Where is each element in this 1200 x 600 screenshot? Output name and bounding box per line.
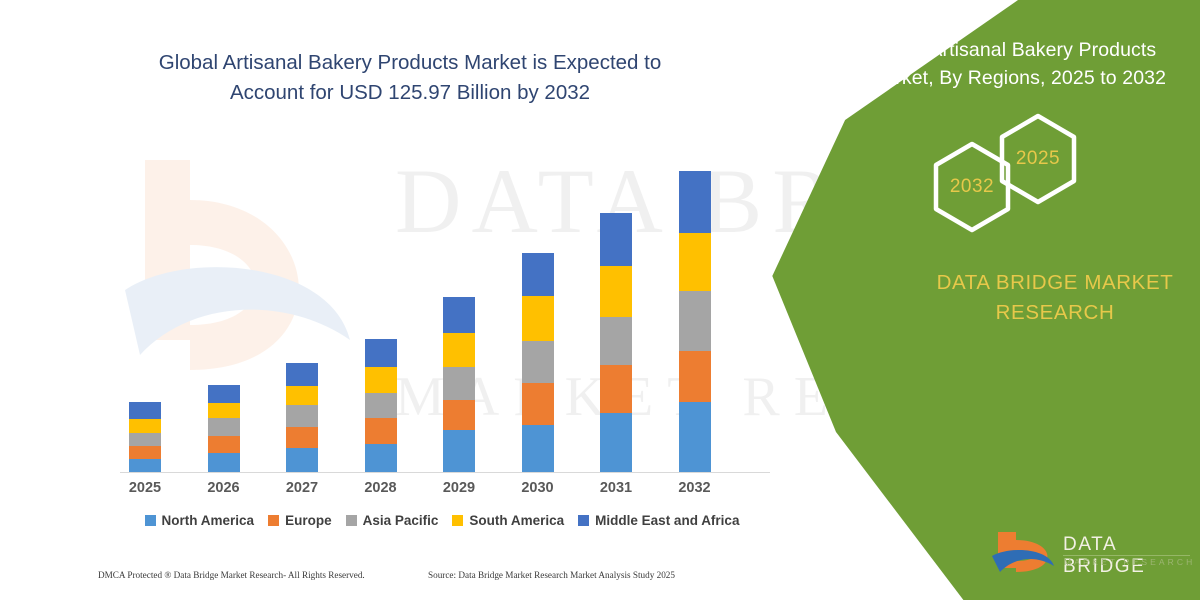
bar-segment-south-america — [286, 386, 318, 405]
hexagon-2032: 2032 — [930, 140, 1014, 234]
logo-divider — [1063, 555, 1190, 556]
stacked-bar-chart: 20252026202720282029203020312032 — [0, 0, 790, 600]
bar-segment-north-america — [443, 430, 475, 472]
bar-2026 — [208, 385, 240, 472]
legend-swatch-icon — [578, 515, 589, 526]
bar-segment-south-america — [522, 296, 554, 341]
bar-segment-europe — [679, 351, 711, 402]
bar-segment-europe — [365, 418, 397, 444]
bar-segment-south-america — [129, 419, 161, 433]
bar-segment-asia-pacific — [208, 418, 240, 436]
bar-segment-asia-pacific — [129, 433, 161, 446]
panel-title: Global Artisanal Bakery Products Market,… — [868, 36, 1188, 92]
x-axis-label-2030: 2030 — [499, 480, 577, 496]
bar-segment-europe — [443, 400, 475, 430]
bar-segment-europe — [522, 383, 554, 425]
chart-axis-line — [120, 472, 770, 473]
legend-label: Europe — [285, 513, 332, 528]
bar-segment-asia-pacific — [679, 291, 711, 351]
bar-2025 — [129, 402, 161, 472]
footer-source: Source: Data Bridge Market Research Mark… — [428, 570, 675, 580]
x-axis-label-2026: 2026 — [185, 480, 263, 496]
bar-segment-north-america — [679, 402, 711, 472]
x-axis-label-2027: 2027 — [263, 480, 341, 496]
bar-2027 — [286, 363, 318, 472]
chart-legend: North AmericaEuropeAsia PacificSouth Ame… — [112, 513, 772, 528]
bar-segment-asia-pacific — [522, 341, 554, 383]
bar-2028 — [365, 339, 397, 472]
bar-2029 — [443, 297, 475, 472]
bar-segment-north-america — [365, 444, 397, 472]
bar-segment-middle-east-and-africa — [208, 385, 240, 403]
legend-item-south-america[interactable]: South America — [452, 513, 564, 528]
bar-segment-asia-pacific — [600, 317, 632, 365]
bar-2030 — [522, 253, 554, 472]
bar-segment-europe — [600, 365, 632, 413]
bar-segment-europe — [208, 436, 240, 453]
bar-segment-europe — [129, 446, 161, 459]
bar-segment-asia-pacific — [365, 393, 397, 418]
legend-label: North America — [162, 513, 255, 528]
bar-segment-south-america — [600, 266, 632, 317]
bar-segment-north-america — [129, 459, 161, 472]
logo-wordmark: DATA BRIDGE — [1063, 534, 1200, 578]
x-axis-label-2031: 2031 — [577, 480, 655, 496]
bar-segment-north-america — [208, 453, 240, 472]
bar-2032 — [679, 171, 711, 472]
hexagon-2032-label: 2032 — [950, 176, 994, 198]
legend-item-asia-pacific[interactable]: Asia Pacific — [346, 513, 439, 528]
legend-label: Middle East and Africa — [595, 513, 739, 528]
legend-item-europe[interactable]: Europe — [268, 513, 332, 528]
bar-segment-north-america — [522, 425, 554, 472]
bar-segment-south-america — [443, 333, 475, 367]
legend-swatch-icon — [452, 515, 463, 526]
legend-swatch-icon — [268, 515, 279, 526]
bar-segment-middle-east-and-africa — [129, 402, 161, 419]
x-axis-label-2029: 2029 — [420, 480, 498, 496]
hexagon-group: 2025 2032 — [930, 112, 1080, 222]
x-axis-label-2025: 2025 — [106, 480, 184, 496]
bar-segment-north-america — [286, 448, 318, 472]
hexagon-2025-label: 2025 — [1016, 148, 1060, 170]
bar-segment-north-america — [600, 413, 632, 472]
bar-segment-middle-east-and-africa — [286, 363, 318, 386]
bar-segment-middle-east-and-africa — [600, 213, 632, 266]
bar-segment-europe — [286, 427, 318, 448]
x-axis-label-2032: 2032 — [656, 480, 734, 496]
legend-swatch-icon — [145, 515, 156, 526]
x-axis-label-2028: 2028 — [342, 480, 420, 496]
bar-segment-south-america — [679, 233, 711, 291]
legend-label: South America — [469, 513, 564, 528]
bar-segment-asia-pacific — [443, 367, 475, 400]
bar-segment-middle-east-and-africa — [443, 297, 475, 333]
footer-copyright: DMCA Protected ® Data Bridge Market Rese… — [98, 570, 365, 580]
bar-segment-middle-east-and-africa — [522, 253, 554, 296]
infographic-canvas: DATA BRIDGE MARKET RESEARCH Global Artis… — [0, 0, 1200, 600]
legend-swatch-icon — [346, 515, 357, 526]
bar-2031 — [600, 213, 632, 472]
logo-subtitle: MARKET RESEARCH — [1064, 557, 1195, 567]
bar-segment-south-america — [208, 403, 240, 418]
bar-segment-middle-east-and-africa — [679, 171, 711, 233]
legend-item-north-america[interactable]: North America — [145, 513, 255, 528]
legend-label: Asia Pacific — [363, 513, 439, 528]
bar-segment-middle-east-and-africa — [365, 339, 397, 367]
panel-brand-text: DATA BRIDGE MARKET RESEARCH — [915, 268, 1195, 328]
legend-item-middle-east-and-africa[interactable]: Middle East and Africa — [578, 513, 739, 528]
bar-segment-south-america — [365, 367, 397, 393]
bar-segment-asia-pacific — [286, 405, 318, 427]
